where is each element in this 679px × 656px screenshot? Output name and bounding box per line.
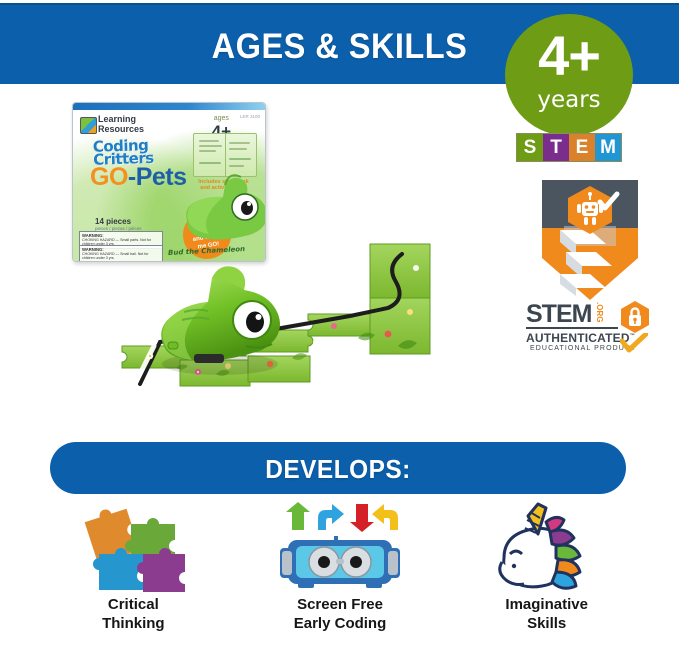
stem-letter-t: T	[543, 134, 569, 161]
brand-name: Learning Resources	[98, 115, 190, 134]
imaginative-line-2: Skills	[527, 615, 566, 632]
box-ages-label: ages	[214, 115, 229, 122]
coding-line-1: Screen Free	[297, 596, 383, 613]
stem-letter-s: S	[517, 134, 543, 161]
stem-letter-strip: STEM	[516, 133, 622, 162]
brand-line-1: Learning	[98, 114, 136, 124]
stem-letter-m: M	[595, 134, 621, 161]
skill-label-early-coding: Screen Free Early Coding	[294, 595, 387, 633]
skill-label-imaginative: Imaginative Skills	[505, 595, 588, 633]
product-scene	[120, 238, 510, 408]
piece-count-value: 14 pieces	[95, 217, 131, 226]
org-text: .ORG	[595, 302, 604, 322]
develops-banner: DEVELOPS:	[50, 442, 626, 494]
box-top-strip	[73, 103, 265, 110]
skills-row: Critical Thinking	[30, 500, 650, 650]
arrow-left-icon	[372, 504, 398, 530]
authenticated-label: AUTHENTICATED	[526, 331, 630, 345]
arrow-down-icon	[350, 504, 374, 532]
age-unit: years	[505, 88, 633, 112]
unicorn-icon	[494, 500, 600, 595]
skill-critical-thinking: Critical Thinking	[30, 500, 237, 650]
product-title-pets: -Pets	[128, 163, 187, 191]
product-title-go: GO	[90, 163, 128, 191]
puzzle-pieces-icon	[79, 500, 187, 595]
wordmark-divider	[526, 327, 618, 329]
stem-letter-e: E	[569, 134, 595, 161]
box-piece-count: 14 pieces pieces / piezas / pièces	[95, 217, 142, 231]
skill-imaginative: Imaginative Skills	[443, 500, 650, 650]
lock-icon	[618, 300, 652, 334]
arrow-right-icon	[318, 504, 344, 530]
box-chameleon-art	[179, 163, 266, 249]
age-value: 4+	[505, 28, 633, 84]
develops-heading: DEVELOPS:	[67, 454, 608, 485]
imaginative-line-1: Imaginative	[505, 596, 588, 613]
stem-text: STEM	[526, 300, 591, 329]
learning-resources-cube-icon	[80, 117, 97, 134]
coding-robot-icon	[278, 500, 402, 595]
stem-authenticated-badge: STEM .ORG AUTHENTICATED™ EDUCATIONAL PRO…	[520, 178, 660, 368]
critical-line-1: Critical	[108, 596, 159, 613]
skill-early-coding: Screen Free Early Coding	[237, 500, 444, 650]
box-sku: LER 3100	[240, 114, 260, 119]
product-title: GO-Pets	[90, 165, 187, 190]
stem-wordmark: STEM .ORG AUTHENTICATED™ EDUCATIONAL PRO…	[520, 300, 660, 356]
skill-label-critical-thinking: Critical Thinking	[102, 595, 165, 633]
critical-line-2: Thinking	[102, 615, 165, 632]
arrow-up-icon	[286, 502, 310, 530]
age-badge: 4+ years	[505, 14, 633, 136]
authenticated-check-icon	[620, 333, 648, 355]
infographic-stage: AGES & SKILLS 4+ years STEM Learning Res…	[0, 0, 679, 656]
stem-shield-emblem	[520, 178, 660, 303]
coding-line-2: Early Coding	[294, 615, 387, 632]
brand-line-2: Resources	[98, 124, 144, 134]
chameleon-toy	[161, 266, 280, 375]
